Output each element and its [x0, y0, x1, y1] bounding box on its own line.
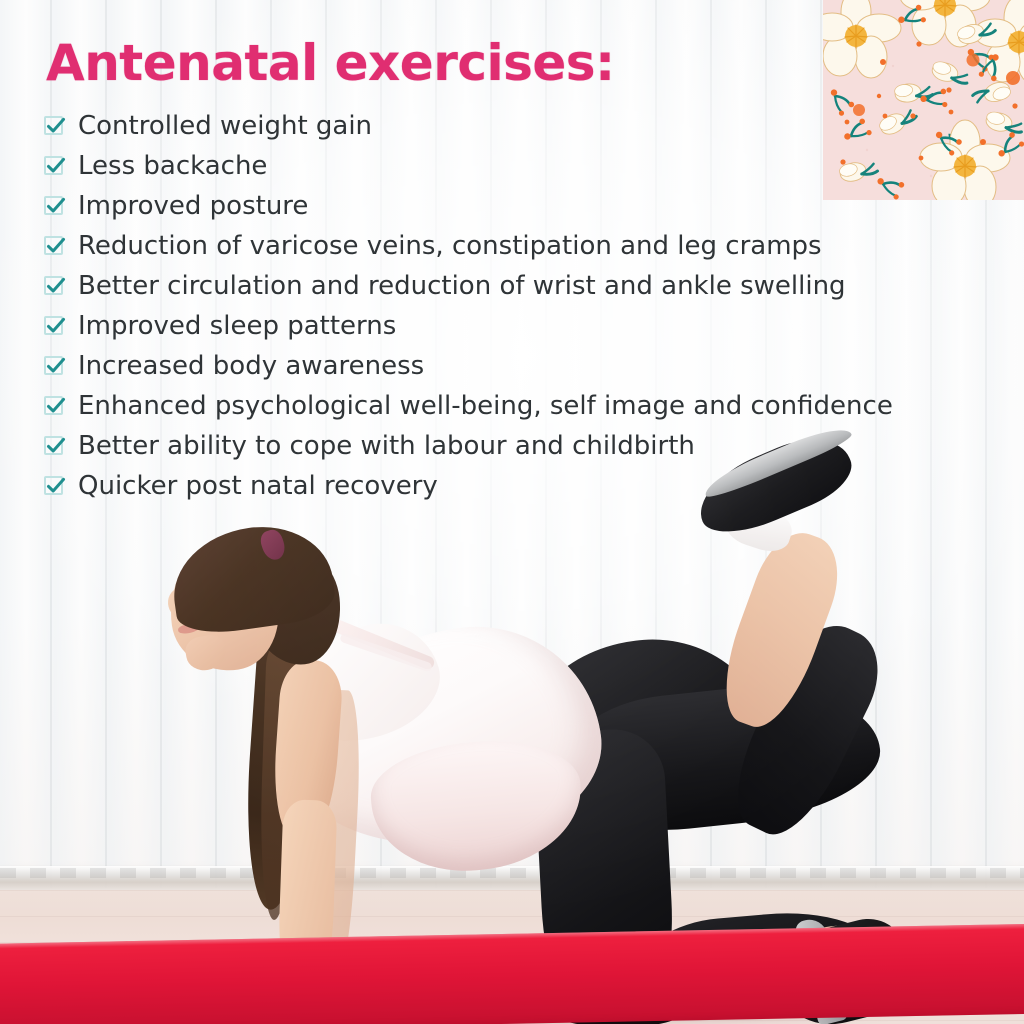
- list-item: Improved sleep patterns: [44, 306, 974, 346]
- benefit-label: Better ability to cope with labour and c…: [78, 433, 695, 459]
- benefit-label: Enhanced psychological well-being, self …: [78, 393, 893, 419]
- list-item: Less backache: [44, 146, 974, 186]
- checkbox-checked-icon: [44, 316, 65, 337]
- checkbox-checked-icon: [44, 156, 65, 177]
- list-item: Better ability to cope with labour and c…: [44, 426, 974, 466]
- benefit-label: Less backache: [78, 153, 267, 179]
- checkbox-checked-icon: [44, 236, 65, 257]
- benefit-label: Improved posture: [78, 193, 308, 219]
- list-item: Enhanced psychological well-being, self …: [44, 386, 974, 426]
- list-item: Improved posture: [44, 186, 974, 226]
- benefit-label: Better circulation and reduction of wris…: [78, 273, 846, 299]
- benefit-label: Quicker post natal recovery: [78, 473, 438, 499]
- checkbox-checked-icon: [44, 356, 65, 377]
- checkbox-checked-icon: [44, 196, 65, 217]
- list-item: Quicker post natal recovery: [44, 466, 974, 506]
- list-item: Better circulation and reduction of wris…: [44, 266, 974, 306]
- checkbox-checked-icon: [44, 116, 65, 137]
- benefits-list: Controlled weight gain Less backache Imp…: [44, 106, 974, 506]
- list-item: Reduction of varicose veins, constipatio…: [44, 226, 974, 266]
- checkbox-checked-icon: [44, 476, 65, 497]
- list-item: Increased body awareness: [44, 346, 974, 386]
- benefit-label: Controlled weight gain: [78, 113, 372, 139]
- benefit-label: Reduction of varicose veins, constipatio…: [78, 233, 822, 259]
- benefit-label: Increased body awareness: [78, 353, 424, 379]
- benefit-label: Improved sleep patterns: [78, 313, 396, 339]
- checkbox-checked-icon: [44, 436, 65, 457]
- checkbox-checked-icon: [44, 396, 65, 417]
- antenatal-exercises-poster: Antenatal exercises: Controlled weight g…: [0, 0, 1024, 1024]
- checkbox-checked-icon: [44, 276, 65, 297]
- list-item: Controlled weight gain: [44, 106, 974, 146]
- page-title: Antenatal exercises:: [46, 34, 615, 92]
